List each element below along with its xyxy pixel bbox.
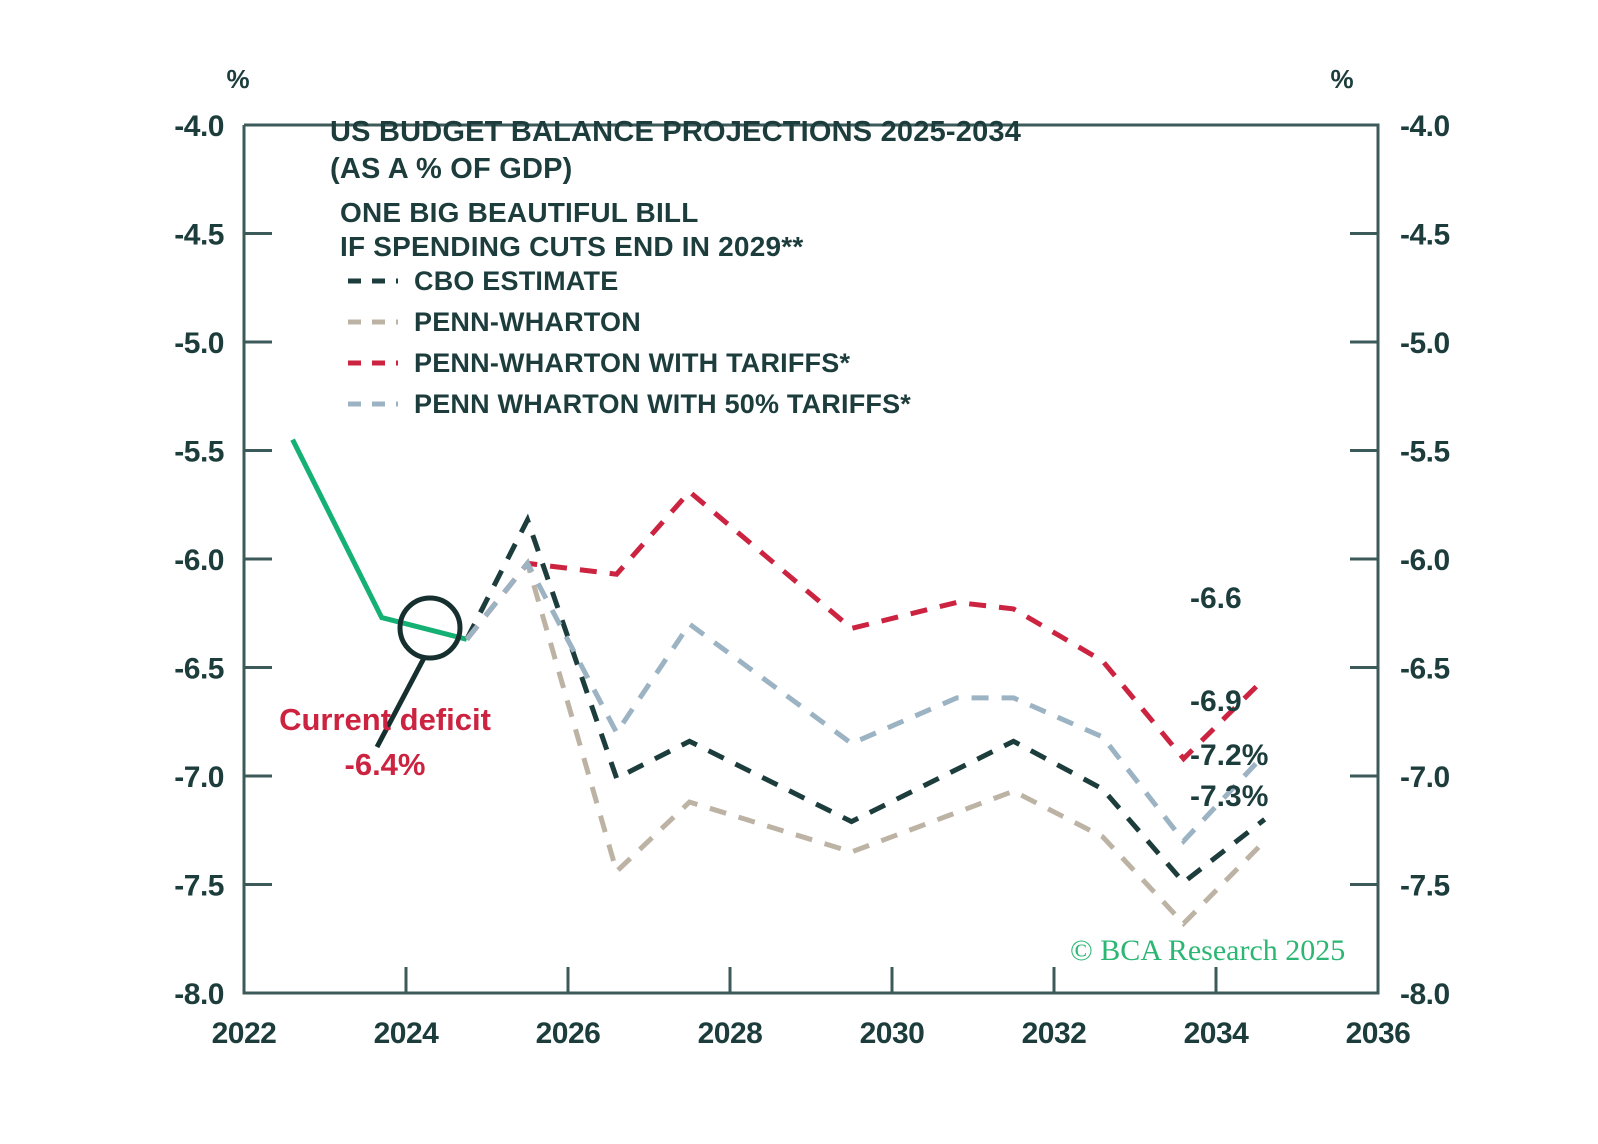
end-label-72: -7.2% — [1190, 739, 1268, 772]
y-tick-label-right: -7.5 — [1400, 870, 1450, 903]
chart-subtitle: (AS A % OF GDP) — [330, 153, 573, 185]
annotation-label-line1: Current deficit — [279, 702, 491, 737]
y-tick-label-left: -7.5 — [174, 870, 224, 903]
legend: ONE BIG BEAUTIFUL BILL IF SPENDING CUTS … — [340, 197, 911, 419]
y-tick-label-left: -5.0 — [174, 327, 224, 360]
annotation-label-line2: -6.4% — [345, 747, 426, 782]
series-line-4 — [467, 563, 1265, 841]
y-tick-label-right: -6.0 — [1400, 544, 1450, 577]
budget-balance-line-chart: -4.0-4.5-5.0-5.5-6.0-6.5-7.0-7.5-8.0 -4.… — [0, 0, 1598, 1144]
y-tick-label-right: -4.0 — [1400, 110, 1450, 143]
series-lines — [293, 440, 1265, 924]
x-tick-label: 2036 — [1346, 1017, 1411, 1050]
legend-label-1: PENN-WHARTON — [414, 307, 641, 337]
end-label-69: -6.9 — [1190, 685, 1242, 718]
y-tick-label-left: -6.5 — [174, 653, 224, 686]
y-tick-label-left: -7.0 — [174, 761, 224, 794]
y-tick-label-left: -5.5 — [174, 436, 224, 469]
series-end-labels: -7.2%-7.3%-6.6-6.9 — [1190, 582, 1268, 813]
y-tick-label-right: -5.0 — [1400, 327, 1450, 360]
y-tick-label-left: -8.0 — [174, 978, 224, 1011]
series-line-0 — [293, 440, 467, 640]
y-axis-ticks-right — [1350, 125, 1378, 993]
x-tick-label: 2026 — [536, 1017, 601, 1050]
x-tick-label: 2032 — [1022, 1017, 1087, 1050]
chart-root: -4.0-4.5-5.0-5.5-6.0-6.5-7.0-7.5-8.0 -4.… — [0, 0, 1598, 1144]
y-axis-ticks-left — [244, 125, 272, 993]
y-tick-label-right: -5.5 — [1400, 436, 1450, 469]
credit-text: © BCA Research 2025 — [1070, 934, 1345, 967]
y-axis-unit-left: % — [226, 64, 249, 94]
legend-label-3: PENN WHARTON WITH 50% TARIFFS* — [414, 389, 911, 419]
y-tick-label-right: -6.5 — [1400, 653, 1450, 686]
end-label-66: -6.6 — [1190, 582, 1242, 615]
x-tick-label: 2028 — [698, 1017, 763, 1050]
series-line-3 — [467, 492, 1265, 759]
x-tick-label: 2034 — [1184, 1017, 1250, 1050]
x-tick-label: 2030 — [860, 1017, 925, 1050]
title-block: US BUDGET BALANCE PROJECTIONS 2025-2034 … — [330, 116, 1021, 185]
legend-heading-line2: IF SPENDING CUTS END IN 2029** — [340, 231, 803, 262]
x-tick-label: 2022 — [212, 1017, 277, 1050]
y-axis-labels-right: -4.0-4.5-5.0-5.5-6.0-6.5-7.0-7.5-8.0 — [1400, 110, 1450, 1011]
y-tick-label-left: -6.0 — [174, 544, 224, 577]
chart-title: US BUDGET BALANCE PROJECTIONS 2025-2034 — [330, 116, 1021, 148]
end-label-73: -7.3% — [1190, 780, 1268, 813]
legend-label-0: CBO ESTIMATE — [414, 266, 618, 296]
y-axis-unit-right: % — [1330, 64, 1353, 94]
series-line-1 — [467, 520, 1265, 882]
current-deficit-annotation: Current deficit -6.4% — [279, 598, 491, 782]
series-line-2 — [467, 563, 1265, 923]
y-tick-label-left: -4.5 — [174, 219, 224, 252]
y-tick-label-right: -7.0 — [1400, 761, 1450, 794]
y-tick-label-right: -8.0 — [1400, 978, 1450, 1011]
legend-entries: CBO ESTIMATEPENN-WHARTONPENN-WHARTON WIT… — [348, 266, 911, 419]
y-axis-labels-left: -4.0-4.5-5.0-5.5-6.0-6.5-7.0-7.5-8.0 — [174, 110, 224, 1011]
x-tick-label: 2024 — [374, 1017, 440, 1050]
y-tick-label-left: -4.0 — [174, 110, 224, 143]
legend-label-2: PENN-WHARTON WITH TARIFFS* — [414, 348, 850, 378]
x-axis-ticks — [244, 967, 1378, 993]
legend-heading-line1: ONE BIG BEAUTIFUL BILL — [340, 197, 699, 228]
y-tick-label-right: -4.5 — [1400, 219, 1450, 252]
x-axis-labels: 20222024202620282030203220342036 — [212, 1017, 1411, 1050]
